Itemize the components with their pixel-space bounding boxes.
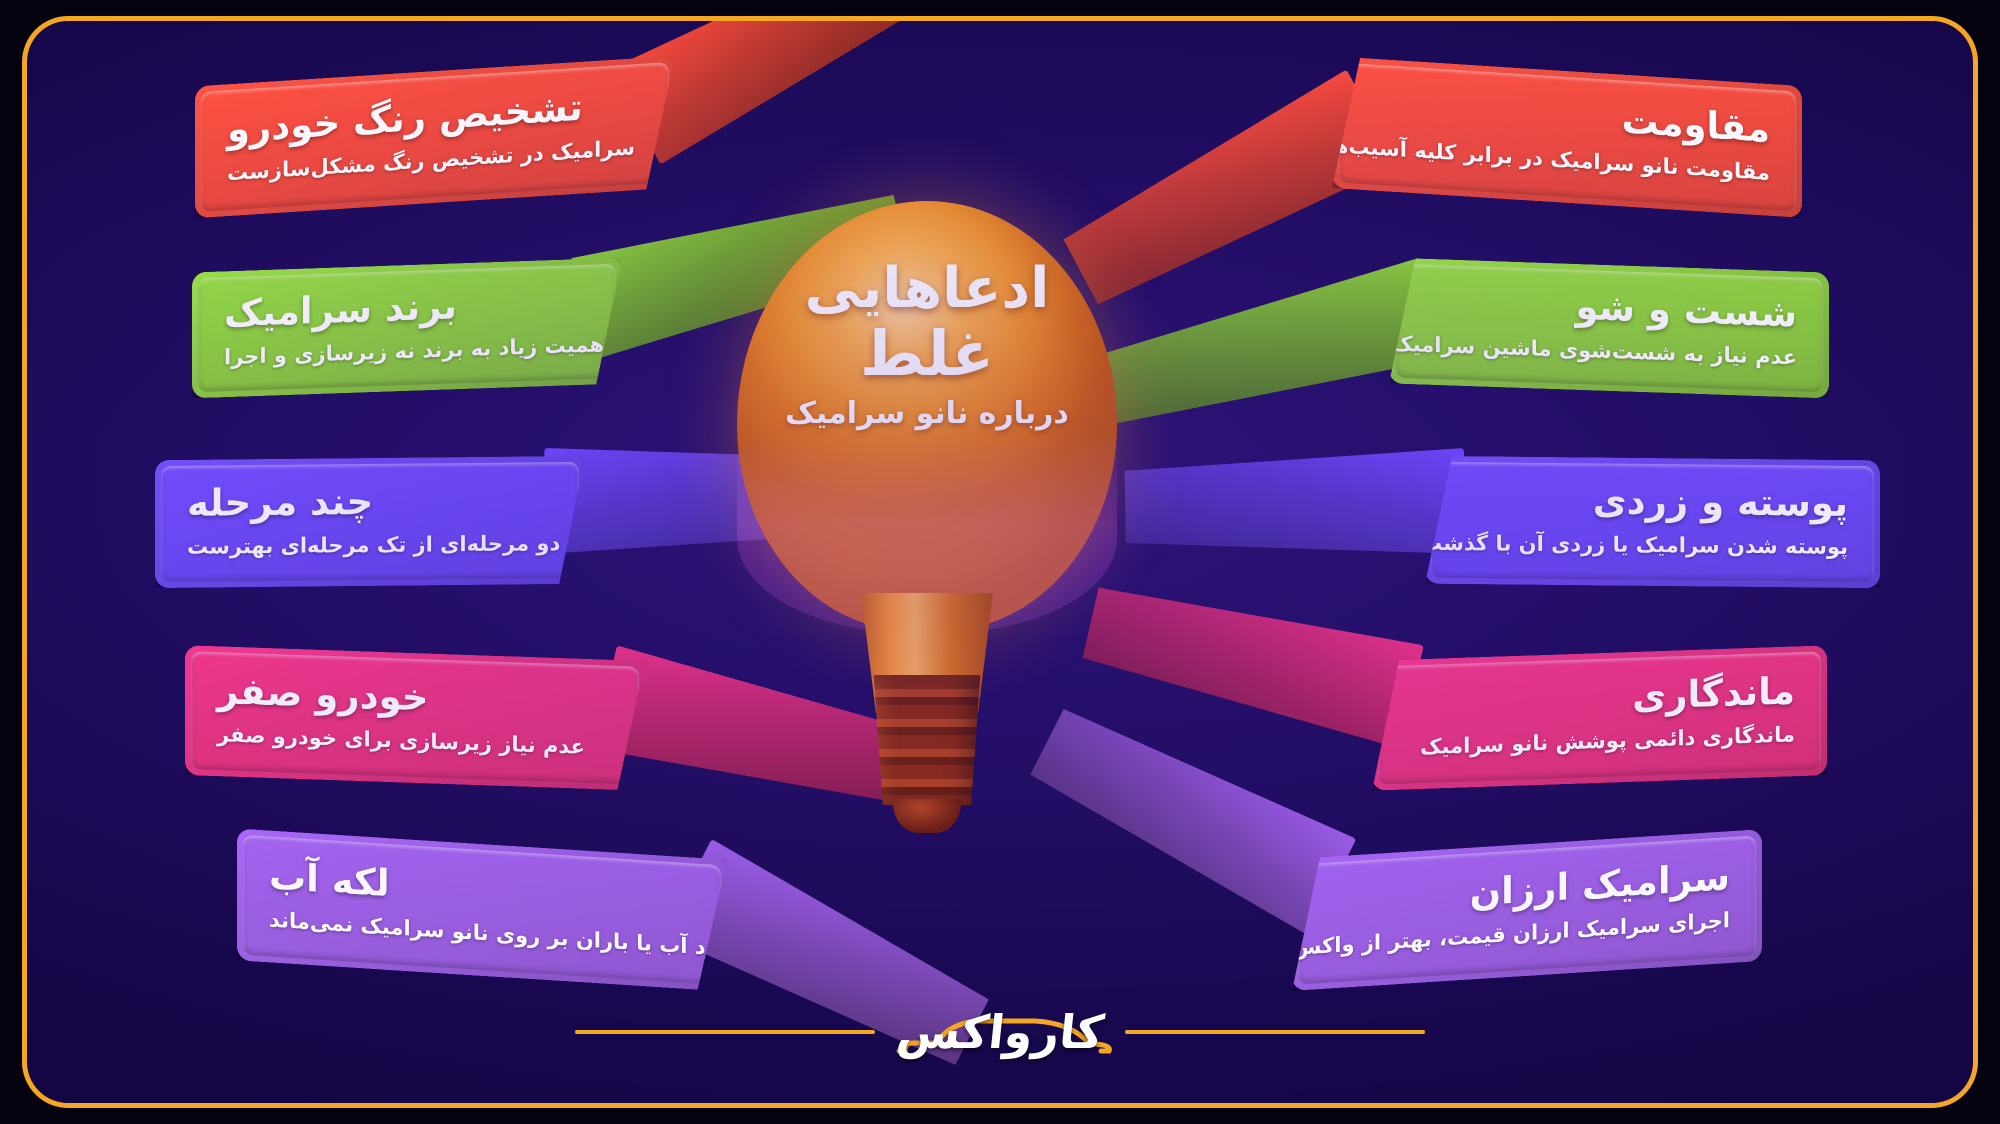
card-title: ماندگاری [1632, 670, 1795, 717]
claim-card-right-1[interactable]: مقاومتمقاومت نانو سرامیک در برابر کلیه آ… [1332, 56, 1802, 218]
card-inner-surface: تشخیص رنگ خودروسرامیک در تشخیص رنگ مشکل‌… [201, 62, 669, 212]
bulb-tip [893, 799, 961, 833]
bulb-glass [737, 201, 1117, 631]
footer-rule-right [1125, 1030, 1425, 1034]
footer: کارواکس [27, 989, 1973, 1075]
card-title: خودرو صفر [217, 670, 428, 719]
card-inner-surface: خودرو صفرعدم نیاز زیرسازی برای خودرو صفر [191, 651, 639, 784]
claim-card-right-3[interactable]: پوسته و زردیپوسته شدن سرامیک یا زردی آن … [1425, 456, 1880, 588]
card-title: شست و شو [1575, 286, 1797, 335]
card-inner-surface: ماندگاریماندگاری دائمی پوشش نانو سرامیک [1378, 651, 1821, 784]
bulb-screw-base [869, 675, 985, 805]
claim-card-left-2[interactable]: برند سرامیکاهمیت زیاد به برند نه زیرسازی… [192, 258, 622, 399]
claim-card-right-4[interactable]: ماندگاریماندگاری دائمی پوشش نانو سرامیک [1372, 645, 1827, 791]
card-title: برند سرامیک [224, 285, 457, 334]
poster-frame: ادعاهایی غلط درباره نانو سرامیک تشخیص رن… [22, 16, 1978, 1108]
claim-card-left-4[interactable]: خودرو صفرعدم نیاز زیرسازی برای خودرو صفر [185, 645, 645, 791]
brand-logo: کارواکس [875, 989, 1125, 1075]
card-subtitle: اجرای سرامیک ارزان قیمت، بهتر از واکس [1292, 907, 1730, 962]
brand-name: کارواکس [894, 1005, 1106, 1059]
card-subtitle: عدم نیاز به شست‌شوی ماشین سرامیک شده [1339, 328, 1797, 371]
claim-card-left-5[interactable]: لکه آبرد آب یا باران بر روی نانو سرامیک … [237, 828, 727, 991]
card-title: سرامیک ارزان [1470, 856, 1730, 914]
card-title: چند مرحله [187, 481, 373, 524]
card-arm-right-2 [1096, 259, 1441, 440]
card-inner-surface: سرامیک ارزاناجرای سرامیک ارزان قیمت، بهت… [1298, 835, 1756, 984]
card-subtitle: اهمیت زیاد به برند نه زیرسازی و اجرا [224, 331, 611, 372]
card-title: پوسته و زردی [1593, 481, 1848, 525]
card-title: لکه آب [269, 856, 390, 905]
claim-card-left-3[interactable]: چند مرحلهدو مرحله‌ای از تک مرحله‌ای بهتر… [155, 456, 585, 588]
card-inner-surface: برند سرامیکاهمیت زیاد به برند نه زیرسازی… [198, 264, 616, 392]
card-inner-surface: پوسته و زردیپوسته شدن سرامیک یا زردی آن … [1431, 462, 1874, 582]
card-inner-surface: لکه آبرد آب یا باران بر روی نانو سرامیک … [243, 835, 721, 985]
card-subtitle: عدم نیاز زیرسازی برای خودرو صفر [217, 721, 585, 761]
card-subtitle: دو مرحله‌ای از تک مرحله‌ای بهترست [187, 530, 560, 561]
card-subtitle: رد آب یا باران بر روی نانو سرامیک نمی‌ما… [269, 906, 718, 962]
claim-card-right-2[interactable]: شست و شوعدم نیاز به شست‌شوی ماشین سرامیک… [1389, 257, 1829, 398]
card-inner-surface: مقاومتمقاومت نانو سرامیک در برابر کلیه آ… [1338, 62, 1796, 211]
card-inner-surface: چند مرحلهدو مرحله‌ای از تک مرحله‌ای بهتر… [161, 462, 579, 582]
lightbulb-icon: ادعاهایی غلط درباره نانو سرامیک [717, 201, 1137, 901]
claim-card-left-1[interactable]: تشخیص رنگ خودروسرامیک در تشخیص رنگ مشکل‌… [195, 56, 675, 219]
infographic-canvas: ادعاهایی غلط درباره نانو سرامیک تشخیص رن… [0, 0, 2000, 1124]
card-title: مقاومت [1621, 100, 1770, 151]
footer-rule-left [575, 1030, 875, 1034]
claim-card-right-5[interactable]: سرامیک ارزاناجرای سرامیک ارزان قیمت، بهت… [1292, 829, 1762, 991]
card-subtitle: ماندگاری دائمی پوشش نانو سرامیک [1420, 721, 1795, 761]
card-inner-surface: شست و شوعدم نیاز به شست‌شوی ماشین سرامیک… [1395, 264, 1823, 393]
card-arm-right-3 [1124, 448, 1466, 560]
